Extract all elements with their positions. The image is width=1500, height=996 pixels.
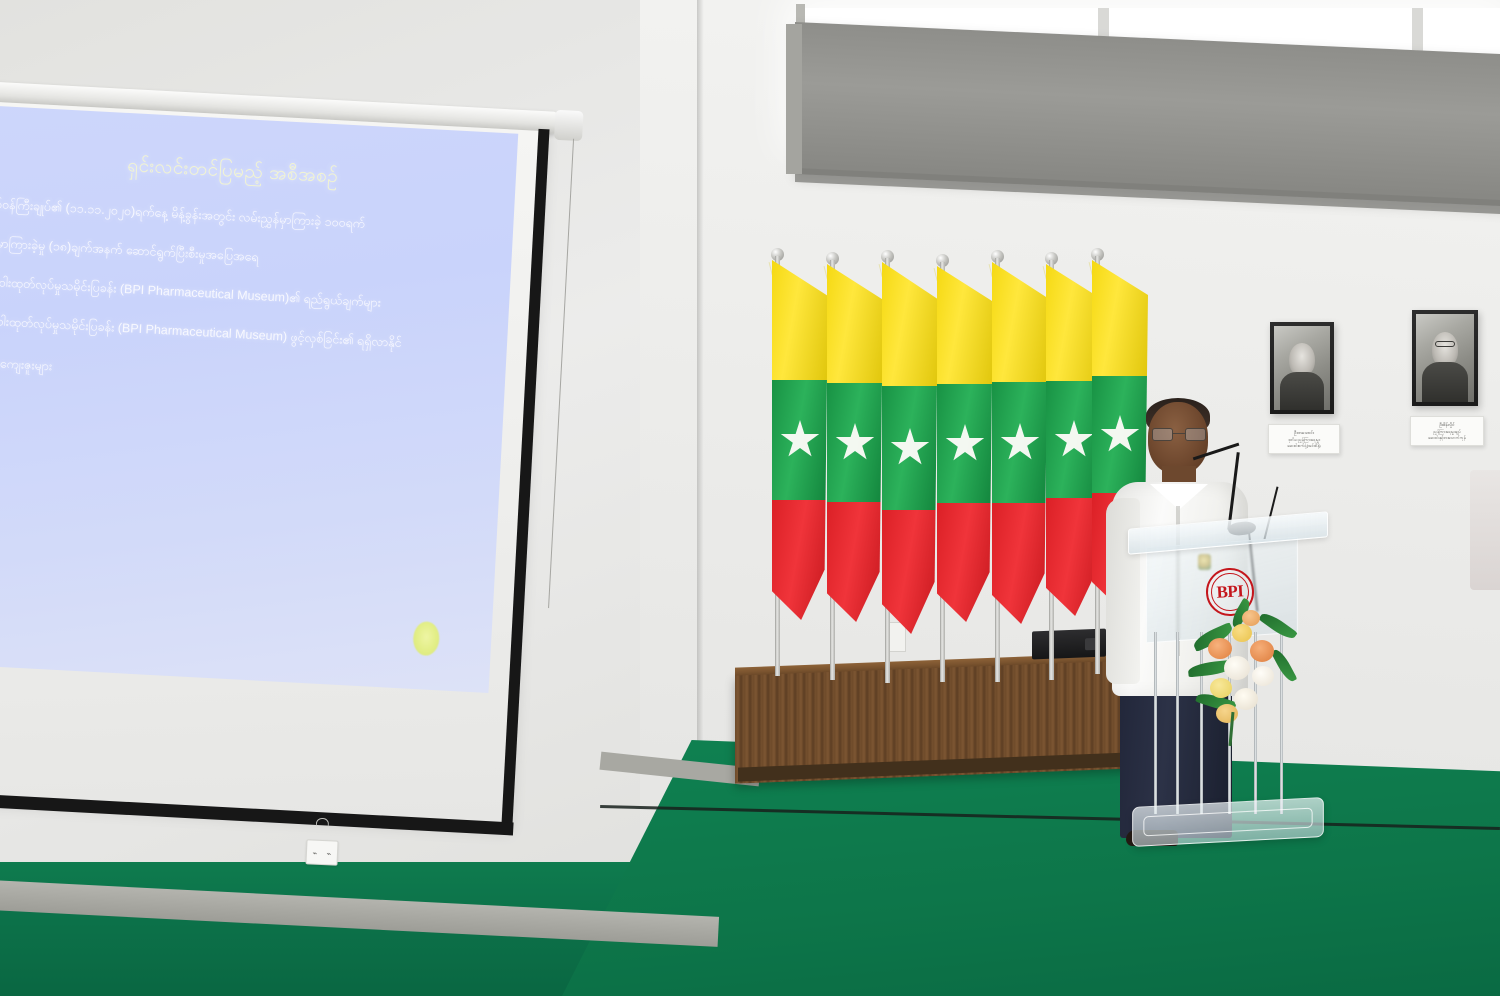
- myanmar-flag: [882, 262, 938, 634]
- slide-bullet-text: နိုင်ငံတော်ဝန်ကြီးချုပ်၏ (၁၁.၁၁.၂၀၂၀)ရက်…: [0, 194, 499, 240]
- ceiling-beam-end: [786, 24, 802, 174]
- portrait-torso: [1422, 362, 1467, 402]
- portrait-glasses-icon: [1435, 341, 1455, 347]
- podium-base-plate: [1132, 797, 1324, 847]
- conference-hall-photo: ရှင်းလင်းတင်ပြမည့် အစီအစဉ် ၁။ နိုင်ငံတော…: [0, 0, 1500, 996]
- slide-bullet-text: BPI ဆေးဝါးထုတ်လုပ်မှုသမိုင်းပြခန်း (BPI …: [0, 272, 495, 318]
- slide-bullet: ၁။ နိုင်ငံတော်ဝန်ကြီးချုပ်၏ (၁၁.၁၁.၂၀၂၀)…: [0, 192, 499, 239]
- fern-leaf: [1271, 647, 1298, 684]
- slide-bullet-text: လမ်းညွှန်မှာကြားခဲ့မှု (၁၈)ချက်အနက် ဆောင…: [0, 233, 497, 279]
- slide-bullet-text: BPI ဆေးဝါးထုတ်လုပ်မှုသမိုင်းပြခန်း (BPI …: [0, 311, 493, 357]
- myanmar-flag: [937, 266, 993, 622]
- slide-bullet: ၃။ BPI ဆေးဝါးထုတ်လုပ်မှုသမိုင်းပြခန်း (B…: [0, 270, 495, 317]
- flower-orange: [1250, 640, 1274, 662]
- flower-peach: [1242, 610, 1260, 626]
- projector-screen: ရှင်းလင်းတင်ပြမည့် အစီအစဉ် ၁။ နိုင်ငံတော…: [0, 86, 579, 848]
- plaque-name: ဦးစိန်လှိုင်: [1415, 422, 1479, 429]
- power-outlet[interactable]: ⌁⌁: [305, 839, 338, 865]
- flower-cream: [1216, 704, 1238, 723]
- slide-bullet: ၂။ လမ်းညွှန်မှာကြားခဲ့မှု (၁၈)ချက်အနက် ဆ…: [0, 231, 497, 278]
- myanmar-flag: [772, 260, 828, 620]
- plaque-caption-2: ဆေးဝါးနှင့်စားသောက်ကုန်: [1415, 435, 1479, 441]
- flower-orange: [1208, 638, 1232, 659]
- slide-bullet: ၄။ BPI ဆေးဝါးထုတ်လုပ်မှုသမိုင်းပြခန်း (B…: [0, 309, 493, 356]
- cable-clip: [316, 818, 329, 827]
- podium-rod: [1176, 632, 1179, 814]
- wall-object-right: [1470, 470, 1500, 590]
- portrait-right: [1412, 310, 1478, 406]
- flower-white: [1234, 688, 1258, 710]
- slide-title: ရှင်းလင်းတင်ပြမည့် အစီအစဉ်: [0, 144, 502, 201]
- portrait-right-plaque: ဦးစိန်လှိုင် ညွှန်ကြားရေးမှူးချုပ် ဆေးဝါ…: [1410, 416, 1484, 446]
- myanmar-flag: [992, 262, 1048, 624]
- wall-switch[interactable]: [888, 622, 906, 652]
- slide-tail-text: အကျိုးကျေးဇူးများ: [0, 354, 491, 400]
- portrait-left: [1270, 322, 1334, 414]
- podium-rod: [1154, 632, 1157, 814]
- flower-yellow: [1210, 678, 1232, 698]
- screen-roller-cap: [554, 110, 584, 141]
- eyeglasses-icon: [1152, 428, 1206, 441]
- flower-white: [1224, 656, 1250, 680]
- flower-yellow: [1232, 624, 1252, 642]
- flower-white: [1252, 666, 1274, 686]
- myanmar-flag: [827, 264, 883, 622]
- floral-arrangement: [1196, 604, 1302, 738]
- fern-leaf: [1258, 609, 1297, 642]
- projected-slide: ရှင်းလင်းတင်ပြမည့် အစီအစဉ် ၁။ နိုင်ငံတော…: [0, 102, 518, 693]
